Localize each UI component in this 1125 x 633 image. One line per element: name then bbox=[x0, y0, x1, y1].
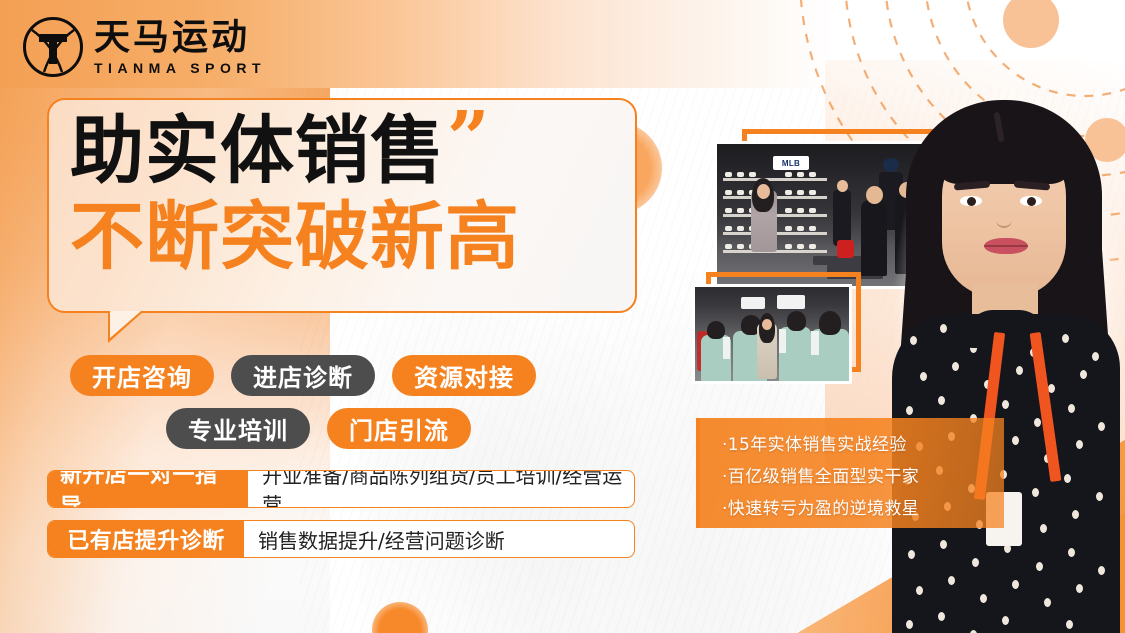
service-pill-group: 开店咨询 进店诊断 资源对接 专业培训 门店引流 bbox=[70, 355, 650, 449]
nike-sign-icon bbox=[777, 295, 805, 309]
marketing-banner: 天马运动 TIANMA SPORT 助实体销售 ” 不断突破新高 开店咨询 进店… bbox=[0, 0, 1125, 633]
service-tag-existing-store: 已有店提升诊断 bbox=[48, 521, 244, 557]
pill-professional-training[interactable]: 专业培训 bbox=[166, 408, 310, 449]
consultant-portrait bbox=[880, 86, 1125, 633]
pill-resource-matching[interactable]: 资源对接 bbox=[392, 355, 536, 396]
quote-mark-icon: ” bbox=[447, 106, 490, 173]
credential-item-1: ·15年实体销售实战经验 bbox=[722, 430, 994, 462]
credentials-box: ·15年实体销售实战经验 ·百亿级销售全面型实干家 ·快速转亏为盈的逆境救星 bbox=[696, 418, 1004, 528]
pill-store-diagnosis[interactable]: 进店诊断 bbox=[231, 355, 375, 396]
credential-item-2: ·百亿级销售全面型实干家 bbox=[722, 462, 994, 494]
team-uniform-photo bbox=[692, 284, 852, 384]
portrait-eye-right bbox=[1020, 196, 1042, 206]
headline-line-1: 助实体销售 bbox=[70, 112, 445, 192]
basketball-t-logo-icon bbox=[22, 16, 84, 78]
service-list: 新开店一对一指导 开业准备/商品陈列组货/员工培训/经营运营 已有店提升诊断 销… bbox=[47, 470, 635, 570]
service-row-existing-store[interactable]: 已有店提升诊断 销售数据提升/经营问题诊断 bbox=[47, 520, 635, 558]
headline-block: 助实体销售 ” 不断突破新高 bbox=[70, 112, 630, 278]
portrait-lip-line bbox=[984, 245, 1028, 247]
brand-name-en: TIANMA SPORT bbox=[94, 61, 266, 75]
store-sign-icon bbox=[741, 297, 765, 309]
mlb-sign-label: MLB bbox=[773, 156, 809, 170]
service-row-new-store[interactable]: 新开店一对一指导 开业准备/商品陈列组货/员工培训/经营运营 bbox=[47, 470, 635, 508]
portrait-fringe bbox=[932, 110, 1076, 184]
credential-item-3: ·快速转亏为盈的逆境救星 bbox=[722, 494, 994, 526]
portrait-eye-left bbox=[960, 196, 982, 206]
pill-open-store-consult[interactable]: 开店咨询 bbox=[70, 355, 214, 396]
pill-store-traffic[interactable]: 门店引流 bbox=[327, 408, 471, 449]
brand-logo[interactable]: 天马运动 TIANMA SPORT bbox=[22, 16, 266, 78]
service-tag-new-store: 新开店一对一指导 bbox=[48, 471, 248, 507]
speech-bubble-tail-inner bbox=[110, 311, 141, 338]
service-desc-new-store: 开业准备/商品陈列组货/员工培训/经营运营 bbox=[248, 471, 634, 507]
brand-name-cn: 天马运动 bbox=[94, 20, 266, 56]
headline-line-2: 不断突破新高 bbox=[70, 198, 630, 278]
service-desc-existing-store: 销售数据提升/经营问题诊断 bbox=[244, 521, 505, 557]
